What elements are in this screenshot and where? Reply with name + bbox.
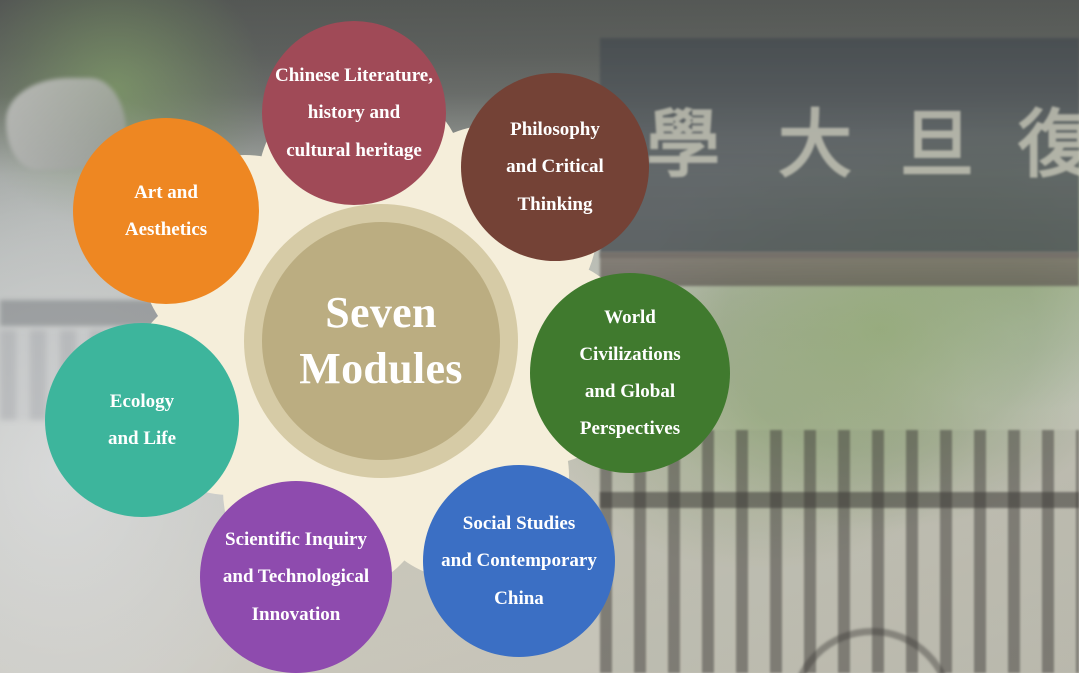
module-label-art-aesthetics: Art and Aesthetics (76, 174, 256, 248)
module-circle-ecology[interactable]: Ecology and Life (45, 323, 239, 517)
module-circle-art-aesthetics[interactable]: Art and Aesthetics (73, 118, 259, 304)
module-circle-world-civilizations[interactable]: World Civilizations and Global Perspecti… (530, 273, 730, 473)
module-label-chinese-literature: Chinese Literature, history and cultural… (262, 57, 446, 168)
center-hub: Seven Modules (244, 204, 518, 478)
module-circle-chinese-literature[interactable]: Chinese Literature, history and cultural… (262, 21, 446, 205)
module-label-ecology: Ecology and Life (52, 383, 232, 457)
center-hub-inner: Seven Modules (262, 222, 500, 460)
center-hub-label: Seven Modules (299, 285, 462, 398)
module-circle-scientific-inquiry[interactable]: Scientific Inquiry and Technological Inn… (200, 481, 392, 673)
module-circle-philosophy[interactable]: Philosophy and Critical Thinking (461, 73, 649, 261)
module-label-scientific-inquiry: Scientific Inquiry and Technological Inn… (200, 521, 392, 632)
module-circle-social-studies[interactable]: Social Studies and Contemporary China (423, 465, 615, 657)
module-label-world-civilizations: World Civilizations and Global Perspecti… (530, 299, 730, 447)
module-label-philosophy: Philosophy and Critical Thinking (461, 111, 649, 222)
module-label-social-studies: Social Studies and Contemporary China (423, 505, 615, 616)
seven-modules-infographic: 學 大 旦 復 Seven Modules Chinese Literature… (0, 0, 1079, 673)
